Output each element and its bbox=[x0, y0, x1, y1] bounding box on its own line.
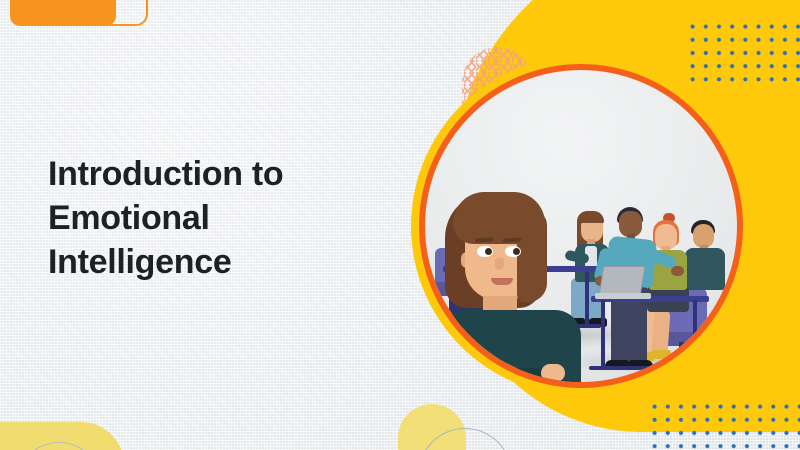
desk-right-leg-2 bbox=[693, 300, 697, 368]
foreground-nose bbox=[495, 258, 504, 270]
decor-dot-grid-top-right bbox=[684, 18, 800, 84]
presentation-slide: Introduction to Emotional Intelligence bbox=[0, 0, 800, 450]
person-woman-right-shoe-2 bbox=[649, 350, 671, 359]
person-standing-man-hand-right bbox=[671, 266, 684, 276]
office-teamwork-illustration bbox=[425, 70, 737, 382]
decor-filled-rectangle-top-left bbox=[10, 0, 116, 26]
slide-title: Introduction to Emotional Intelligence bbox=[48, 152, 378, 285]
person-woman-right-leg-2 bbox=[651, 309, 670, 354]
foreground-pupil-2 bbox=[513, 248, 520, 255]
foreground-hair-side bbox=[517, 210, 547, 302]
foreground-mouth bbox=[491, 278, 513, 285]
decor-dot-grid-bottom-right bbox=[646, 398, 800, 450]
foreground-hand bbox=[541, 364, 565, 382]
person-foreground-businesswoman bbox=[425, 192, 627, 382]
foreground-pupil-1 bbox=[485, 248, 492, 255]
illustration-scene bbox=[425, 70, 737, 382]
